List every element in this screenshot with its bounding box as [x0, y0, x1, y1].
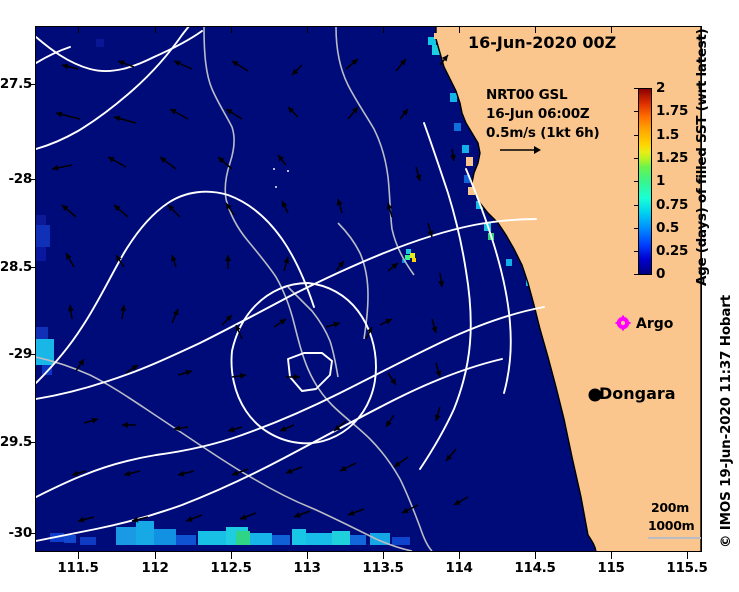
x-tick-mark	[611, 552, 612, 559]
valid-time-label: 16-Jun 06:00Z	[486, 106, 590, 122]
colorbar-tick-label: 1.5	[656, 127, 679, 143]
colorbar-tick	[634, 228, 638, 229]
y-tick-label: -28	[0, 171, 32, 187]
x-tick-mark-top	[307, 26, 308, 33]
y-tick-mark	[29, 179, 36, 180]
x-tick-label: 115.5	[666, 560, 707, 576]
colorbar-tick	[634, 205, 638, 206]
colorbar: 2 1.75 1.5 1.25 1 0.75 0.5 0.25 0 Age (d…	[638, 88, 652, 275]
x-tick-mark-top	[611, 26, 612, 33]
vector-scale-arrow-icon	[498, 143, 542, 157]
colorbar-tick	[634, 88, 638, 89]
bathy-key-line	[648, 537, 702, 539]
colorbar-tick	[634, 158, 638, 159]
colorbar-tick-label: 0.5	[656, 220, 679, 236]
colorbar-tick-label: 0.75	[656, 197, 688, 213]
bathy-key-1000m: 1000m	[648, 518, 694, 533]
x-tick-label: 114.5	[514, 560, 555, 576]
y-tick-label: -27.5	[0, 76, 32, 92]
x-tick-label: 112	[141, 560, 168, 576]
figure-canvas: 16-Jun-2020 00Z NRT00 GSL 16-Jun 06:00Z …	[0, 0, 739, 592]
y-tick-label: -30	[0, 525, 32, 541]
colorbar-tick	[634, 135, 638, 136]
y-tick-mark	[29, 354, 36, 355]
colorbar-tick	[634, 181, 638, 182]
argo-label: Argo	[636, 316, 673, 332]
x-tick-mark	[535, 552, 536, 559]
map-graphic	[36, 27, 701, 551]
colorbar-tick-label: 1.75	[656, 103, 688, 119]
x-tick-mark	[307, 552, 308, 559]
product-label: NRT00 GSL	[486, 87, 567, 103]
colorbar-tick	[634, 251, 638, 252]
colorbar-title: Age (days) of filled SST (wrt latest)	[694, 29, 710, 286]
x-tick-mark-top	[231, 26, 232, 33]
colorbar-tick	[634, 274, 638, 275]
colorbar-gradient	[638, 88, 652, 275]
x-tick-label: 114	[445, 560, 472, 576]
x-tick-mark-top	[155, 26, 156, 33]
colorbar-tick-label: 0.25	[656, 243, 688, 259]
x-tick-mark	[383, 552, 384, 559]
vector-scale-label: 0.5m/s (1kt 6h)	[486, 125, 600, 141]
date-title: 16-Jun-2020 00Z	[468, 33, 616, 52]
y-tick-label: -29.5	[0, 434, 32, 450]
x-tick-mark-top	[459, 26, 460, 33]
colorbar-tick	[634, 111, 638, 112]
map-plot-area: 16-Jun-2020 00Z NRT00 GSL 16-Jun 06:00Z …	[35, 26, 702, 552]
y-tick-mark	[29, 267, 36, 268]
x-tick-label: 113	[293, 560, 320, 576]
colorbar-tick-label: 2	[656, 80, 665, 96]
x-tick-mark-top	[383, 26, 384, 33]
x-tick-label: 111.5	[57, 560, 98, 576]
credit-text: © IMOS 19-Jun-2020 11:37 Hobart	[718, 295, 734, 548]
x-tick-mark-top	[78, 26, 79, 33]
x-tick-label: 112.5	[210, 560, 251, 576]
argo-marker-icon[interactable]	[615, 315, 631, 331]
x-tick-mark	[78, 552, 79, 559]
y-tick-mark	[29, 533, 36, 534]
x-tick-label: 113.5	[362, 560, 403, 576]
x-tick-mark	[155, 552, 156, 559]
y-tick-label: -29	[0, 346, 32, 362]
y-tick-mark	[29, 84, 36, 85]
bathy-key-200m: 200m	[651, 500, 689, 515]
colorbar-tick-label: 1.25	[656, 150, 688, 166]
place-label-dongara: Dongara	[599, 384, 676, 403]
x-tick-mark	[459, 552, 460, 559]
x-tick-mark	[687, 552, 688, 559]
y-tick-mark	[29, 442, 36, 443]
colorbar-tick-label: 1	[656, 173, 665, 189]
y-tick-label: -28.5	[0, 259, 32, 275]
x-tick-label: 115	[597, 560, 624, 576]
colorbar-tick-label: 0	[656, 266, 665, 282]
x-tick-mark-top	[535, 26, 536, 33]
x-tick-mark	[231, 552, 232, 559]
